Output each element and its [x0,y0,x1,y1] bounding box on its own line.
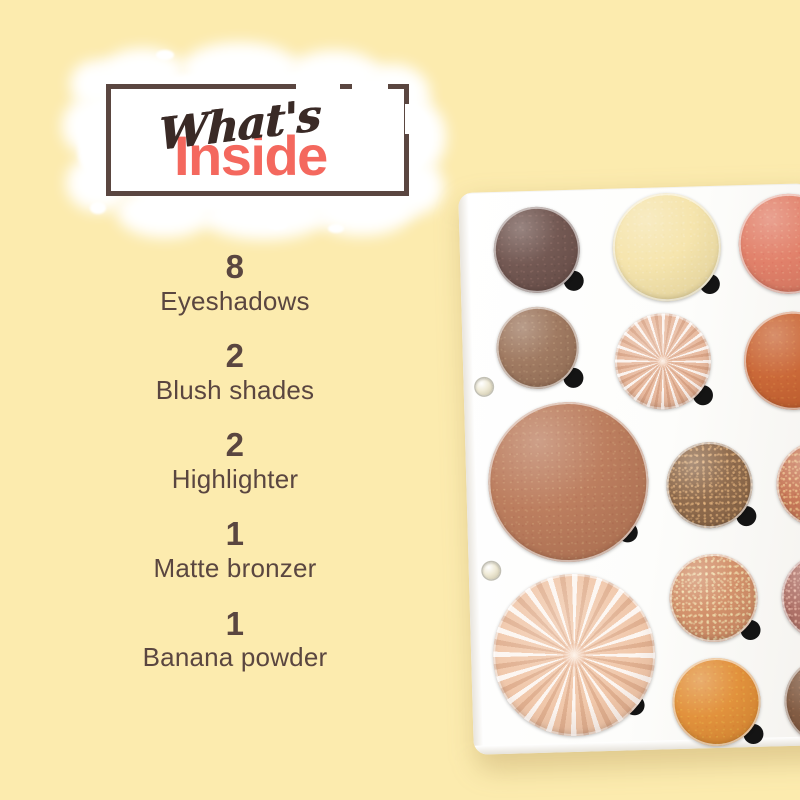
pan-highlighter-champagne [491,572,657,738]
list-item: 1 Matte bronzer [10,517,460,584]
splatter-speck [90,202,106,214]
item-label: Matte bronzer [10,552,460,585]
whats-inside-banner: What's Inside [60,42,450,242]
pan-rim [780,552,800,642]
pan-rim [737,192,800,295]
magnet-rivet [475,378,492,395]
splatter-speck [266,220,288,230]
pan-surface [743,310,800,411]
list-item: 2 Blush shades [10,339,460,406]
pan-surface [775,440,800,528]
pan-eyeshadow-dark-cocoa [493,206,581,294]
item-label: Highlighter [10,463,460,496]
item-count: 8 [10,250,460,285]
pan-blush-burnt-sienna [743,310,800,411]
pan-surface [737,192,800,295]
pan-highlighter-rose-gold [614,312,713,411]
pan-rim [743,310,800,411]
tray-left-bevel [458,193,484,755]
pan-surface [783,656,800,746]
item-label: Blush shades [10,374,460,407]
item-count: 1 [10,517,460,552]
item-count: 2 [10,428,460,463]
pan-eyeshadow-peach-shimmer [668,553,758,643]
splatter-blob [200,190,328,240]
frame-brush-nick [352,81,388,91]
pan-rim [775,440,800,528]
pan-eyeshadow-chocolate [783,656,800,746]
pan-surface [780,552,800,642]
frame-brush-nick [405,104,415,134]
item-label: Banana powder [10,641,460,674]
pan-blush-coral [737,192,800,295]
magnet-rivets [458,183,800,193]
item-count: 1 [10,607,460,642]
list-item: 8 Eyeshadows [10,250,460,317]
splatter-speck [328,224,344,233]
pan-eyeshadow-tangerine [671,657,761,747]
item-label: Eyeshadows [10,285,460,318]
list-item: 2 Highlighter [10,428,460,495]
list-item: 1 Banana powder [10,607,460,674]
splatter-speck [156,50,174,60]
pan-rim [783,656,800,746]
pan-eyeshadow-warm-taupe [495,306,579,390]
pan-eyeshadow-copper-shimmer [775,440,800,528]
pan-eyeshadow-mauve-shimmer [780,552,800,642]
banner-frame-outline [106,84,409,196]
pan-matte-bronzer [486,400,650,564]
splatter-speck [410,138,424,152]
pan-grid [458,183,800,193]
item-count: 2 [10,339,460,374]
poster-canvas: What's Inside 8 Eyeshadows 2 Blush shade… [0,0,800,800]
pan-banana-powder [611,192,722,303]
inventory-list: 8 Eyeshadows 2 Blush shades 2 Highlighte… [10,250,460,696]
makeup-palette [458,183,800,755]
frame-brush-nick [296,80,340,92]
pan-eyeshadow-bronze-shimmer [665,441,753,529]
